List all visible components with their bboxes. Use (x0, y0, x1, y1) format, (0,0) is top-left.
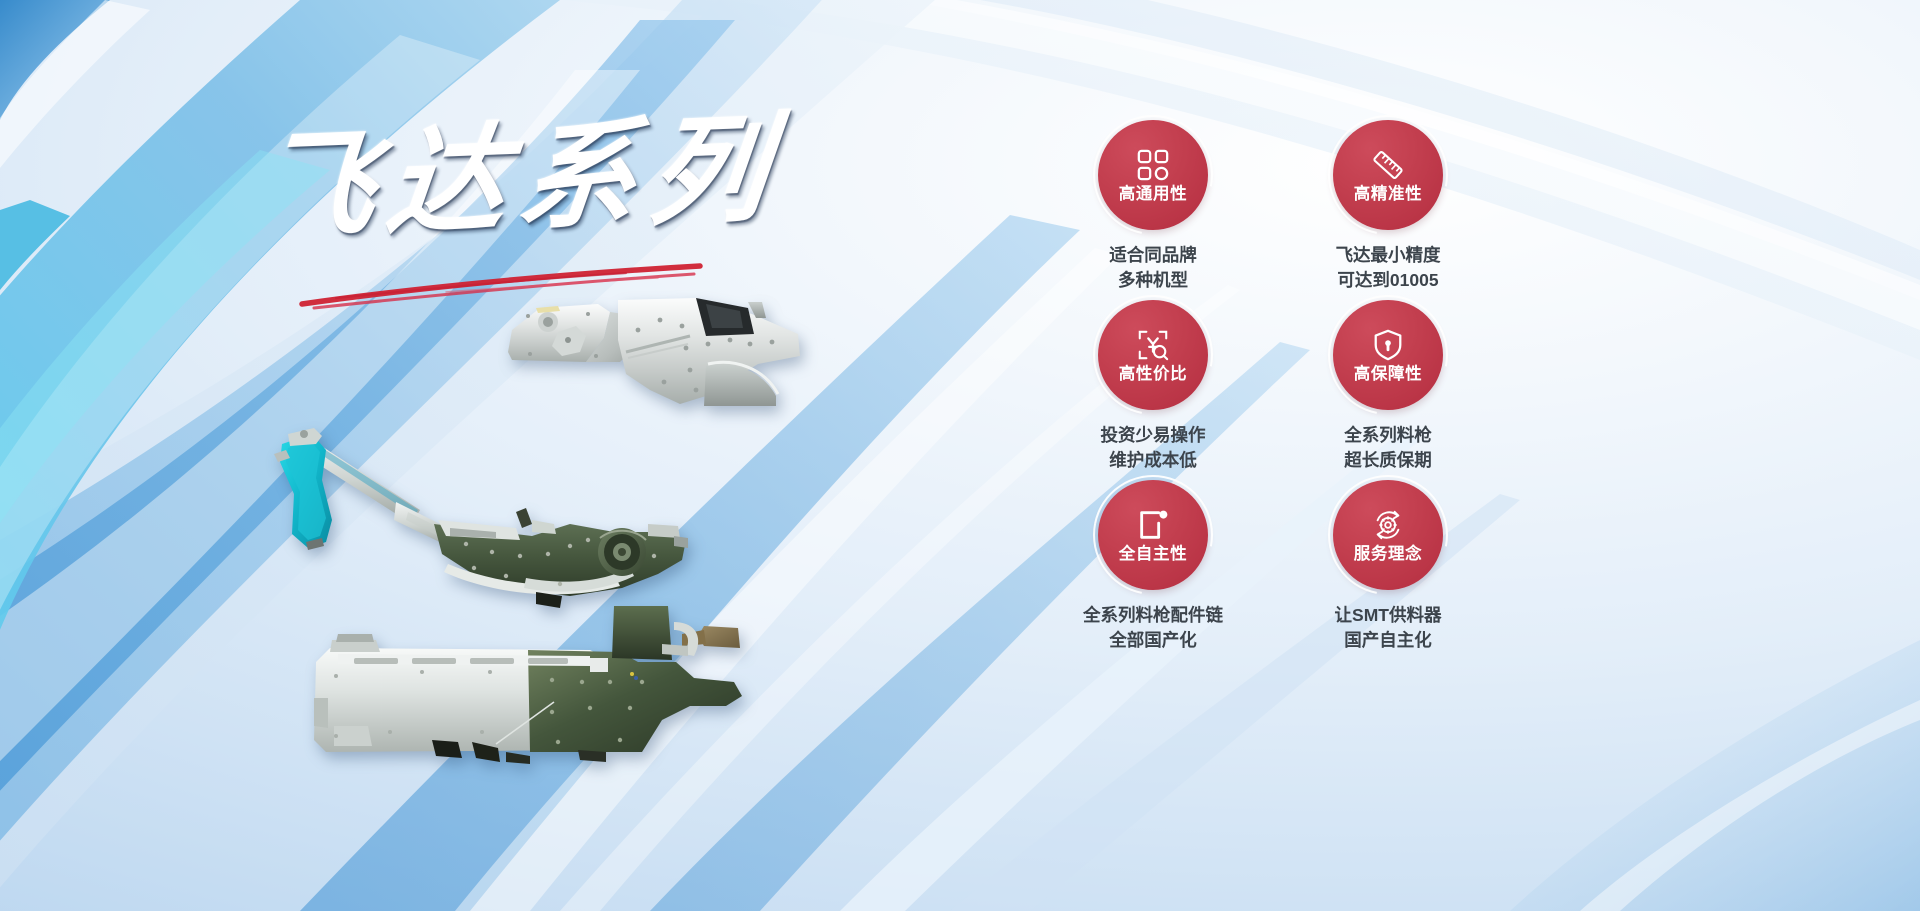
feature-badge: 高性价比 (1098, 300, 1208, 410)
feature-desc-line2: 国产自主化 (1335, 628, 1442, 653)
feature-description: 适合同品牌 多种机型 (1109, 243, 1197, 294)
price-search-icon (1136, 328, 1170, 362)
feature-item-universality[interactable]: 高通用性 适合同品牌 多种机型 (1058, 120, 1248, 300)
feature-item-warranty[interactable]: 高保障性 全系列料枪 超长质保期 (1293, 300, 1483, 480)
feature-item-independence[interactable]: 全自主性 全系列料枪配件链 全部国产化 (1058, 480, 1248, 660)
feature-badge: 高通用性 (1098, 120, 1208, 230)
feature-description: 飞达最小精度 可达到01005 (1336, 243, 1441, 294)
banner-stage: 飞达系列 (0, 0, 1920, 911)
feature-badge-label: 高保障性 (1354, 366, 1422, 383)
feature-desc-line1: 飞达最小精度 (1336, 243, 1441, 268)
feature-item-value[interactable]: 高性价比 投资少易操作 维护成本低 (1058, 300, 1248, 480)
feature-desc-line2: 可达到01005 (1336, 268, 1441, 293)
feature-description: 投资少易操作 维护成本低 (1101, 423, 1206, 474)
feature-desc-line1: 全系列料枪 (1344, 423, 1432, 448)
feature-badge: 服务理念 (1333, 480, 1443, 590)
feature-desc-line1: 全系列料枪配件链 (1083, 603, 1223, 628)
product-image-smt-feeder-green-teal (270, 428, 690, 628)
feature-badge-label: 高性价比 (1119, 366, 1187, 383)
feature-description: 让SMT供料器 国产自主化 (1335, 603, 1442, 654)
feature-description: 全系列料枪配件链 全部国产化 (1083, 603, 1223, 654)
feature-badge: 高精准性 (1333, 120, 1443, 230)
feature-badge-label: 服务理念 (1354, 546, 1422, 563)
feature-item-service[interactable]: 服务理念 让SMT供料器 国产自主化 (1293, 480, 1483, 660)
page-title: 飞达系列 (251, 111, 735, 247)
feature-description: 全系列料枪 超长质保期 (1344, 423, 1432, 474)
feature-desc-line1: 投资少易操作 (1101, 423, 1206, 448)
feature-desc-line2: 维护成本低 (1101, 448, 1206, 473)
feature-badge-label: 高精准性 (1354, 186, 1422, 203)
feature-grid: 高通用性 适合同品牌 多种机型 高精准性 (1058, 120, 1558, 800)
grid-four-icon (1136, 148, 1170, 182)
product-image-smt-feeder-green-long (290, 600, 750, 780)
independent-corner-icon (1136, 508, 1170, 542)
shield-lock-icon (1371, 328, 1405, 362)
feature-desc-line2: 多种机型 (1109, 268, 1197, 293)
feature-badge: 全自主性 (1098, 480, 1208, 590)
feature-badge-label: 全自主性 (1119, 546, 1187, 563)
feature-desc-line1: 让SMT供料器 (1335, 603, 1442, 628)
feature-badge-label: 高通用性 (1119, 186, 1187, 203)
ruler-icon (1371, 148, 1405, 182)
product-image-group (250, 260, 870, 840)
feature-badge: 高保障性 (1333, 300, 1443, 410)
feature-desc-line2: 超长质保期 (1344, 448, 1432, 473)
feature-item-precision[interactable]: 高精准性 飞达最小精度 可达到01005 (1293, 120, 1483, 300)
feature-desc-line2: 全部国产化 (1083, 628, 1223, 653)
gear-refresh-icon (1371, 508, 1405, 542)
feature-desc-line1: 适合同品牌 (1109, 243, 1197, 268)
